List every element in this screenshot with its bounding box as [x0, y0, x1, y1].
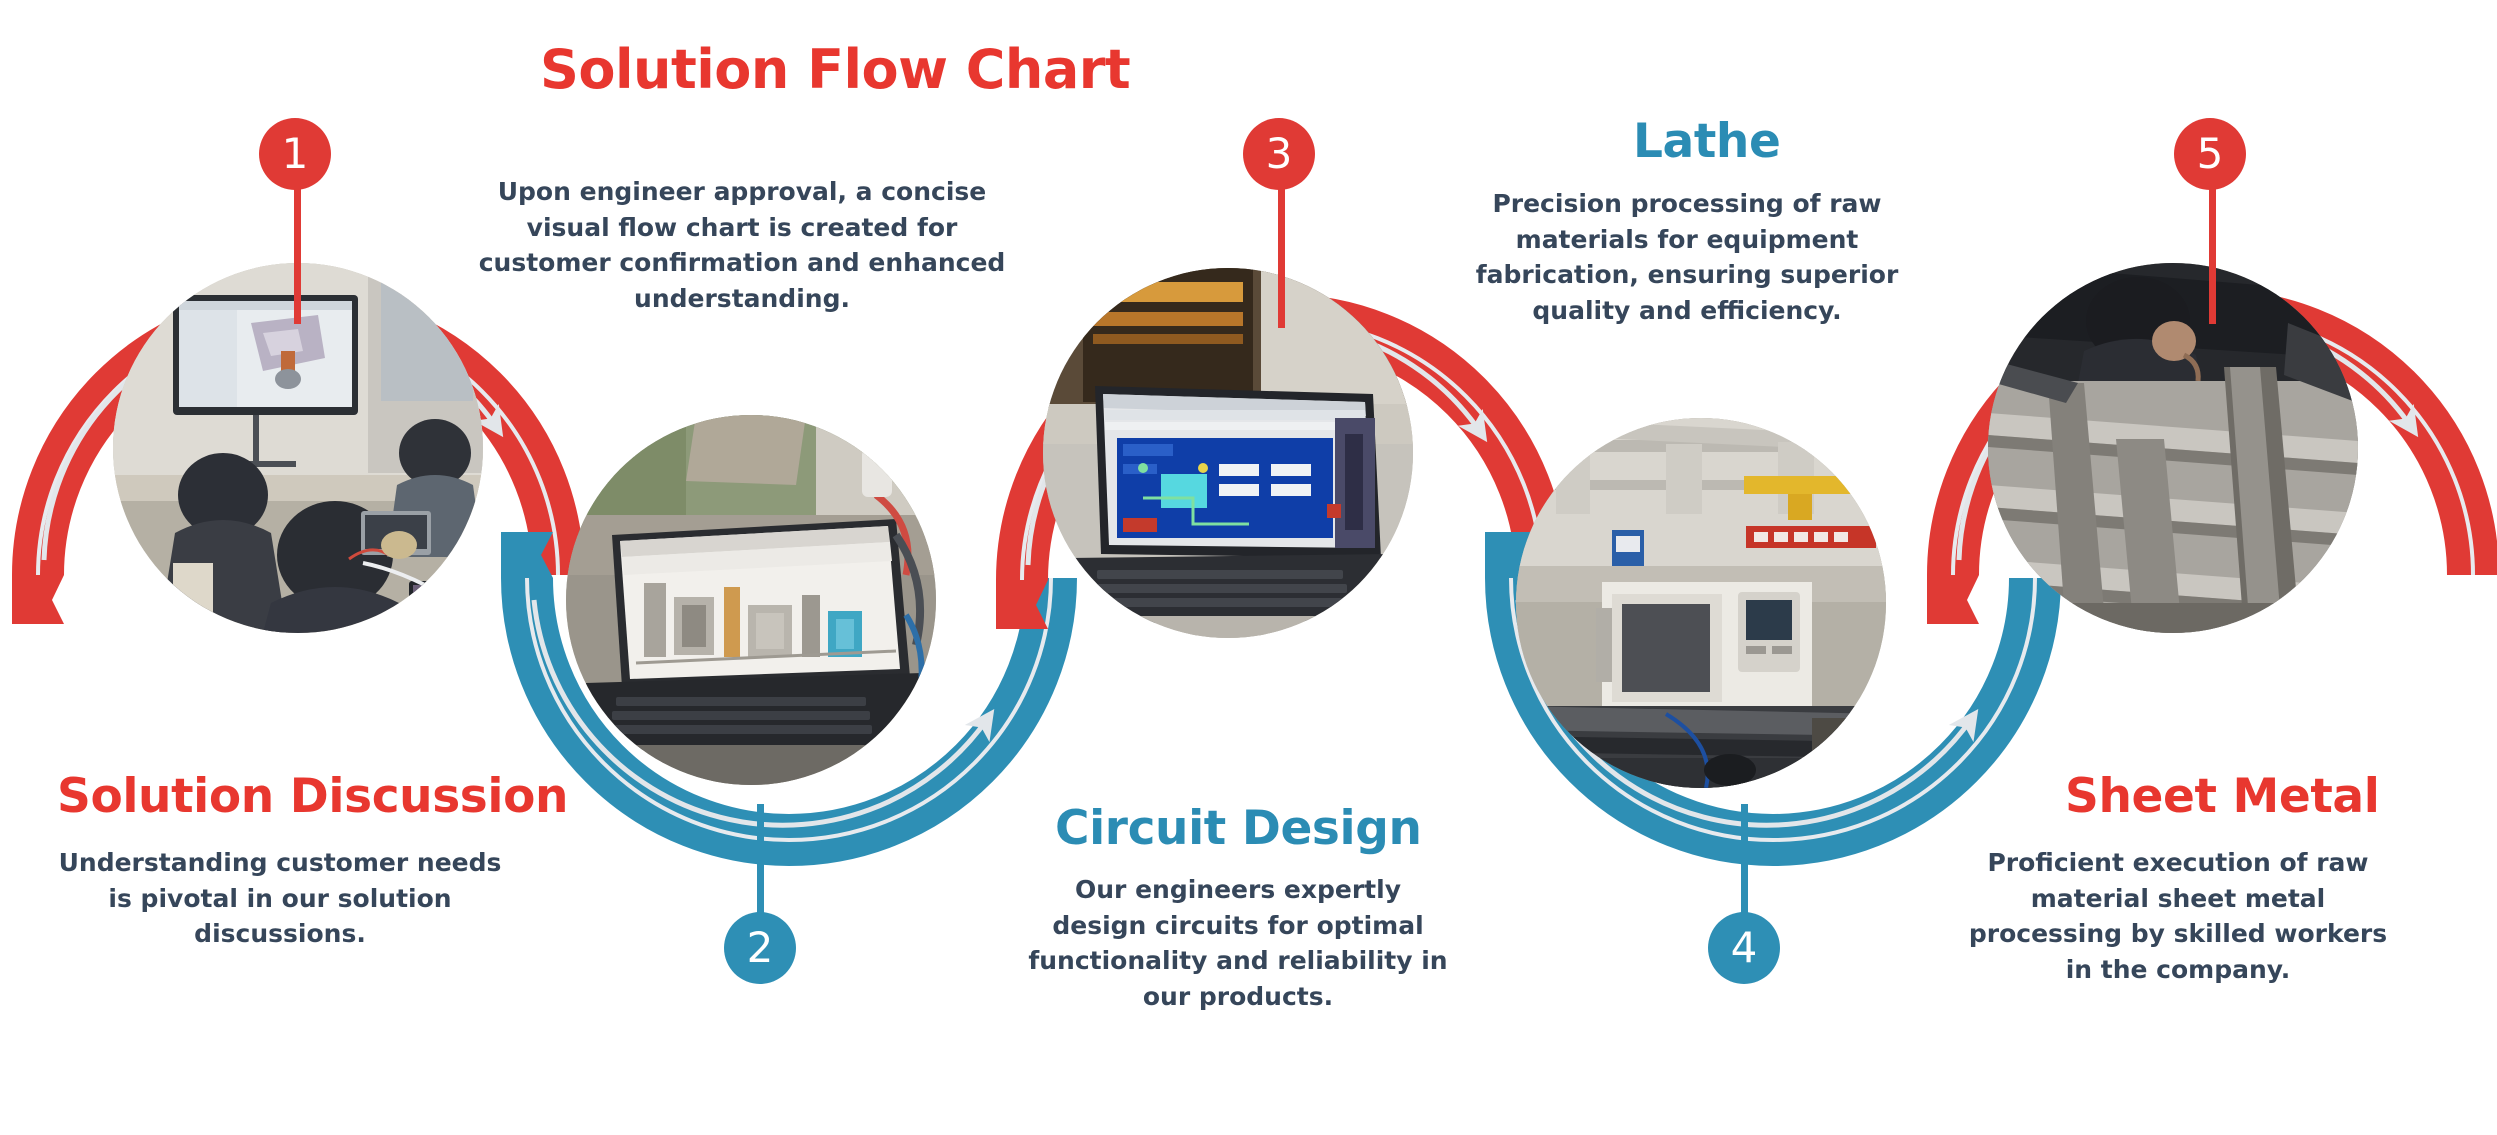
photo-circle-3 — [1043, 268, 1413, 638]
step-body-1-line-1: Understanding customer needs — [20, 845, 540, 881]
step-body-4-line-2: materials for equipment — [1447, 222, 1927, 258]
step-body-2-line-2: visual flow chart is created for — [442, 210, 1042, 246]
photo-circle-5 — [1988, 263, 2358, 633]
step-body-4-line-4: quality and efficiency. — [1447, 293, 1927, 329]
photo-circle-2 — [566, 415, 936, 785]
step-body-3-line-2: design circuits for optimal — [978, 908, 1498, 944]
step-body-2-line-3: customer confirmation and enhanced — [442, 245, 1042, 281]
step-badge-3[interactable]: 3 — [1243, 118, 1315, 190]
step-body-5-line-1: Proficient execution of raw — [1898, 845, 2458, 881]
step-badge-3-label: 3 — [1266, 133, 1293, 175]
step-body-4-line-3: fabrication, ensuring superior — [1447, 257, 1927, 293]
step-heading-1: Solution Discussion — [57, 773, 568, 820]
step-body-3-line-1: Our engineers expertly — [978, 872, 1498, 908]
infographic-canvas: 1 2 3 4 5 Solution Flow Chart Solution D… — [0, 0, 2497, 1135]
step-body-4-line-1: Precision processing of raw — [1447, 186, 1927, 222]
step-body-1-line-2: is pivotal in our solution — [20, 881, 540, 917]
step-heading-3: Circuit Design — [1055, 805, 1422, 852]
step-badge-5[interactable]: 5 — [2174, 118, 2246, 190]
photo-cnc-lathe — [1516, 418, 1886, 788]
badge-stem-4 — [1741, 804, 1748, 916]
step-badge-4[interactable]: 4 — [1708, 912, 1780, 984]
step-body-5: Proficient execution of raw material she… — [1898, 845, 2458, 987]
step-badge-2[interactable]: 2 — [724, 912, 796, 984]
step-body-2-line-4: understanding. — [442, 281, 1042, 317]
step-body-1: Understanding customer needs is pivotal … — [20, 845, 540, 952]
step-body-3: Our engineers expertly design circuits f… — [978, 872, 1498, 1014]
step-body-1-line-3: discussions. — [20, 916, 540, 952]
step-heading-5: Sheet Metal — [2065, 773, 2379, 820]
step-badge-1[interactable]: 1 — [259, 118, 331, 190]
step-body-5-line-2: material sheet metal — [1898, 881, 2458, 917]
step-badge-2-label: 2 — [747, 927, 774, 969]
badge-stem-2 — [757, 804, 764, 916]
badge-stem-3 — [1278, 186, 1285, 328]
step-body-5-line-4: in the company. — [1898, 952, 2458, 988]
step-body-3-line-4: our products. — [978, 979, 1498, 1015]
step-body-5-line-3: processing by skilled workers — [1898, 916, 2458, 952]
photo-circuit-design — [1043, 268, 1413, 638]
step-heading-4: Lathe — [1633, 118, 1780, 165]
page-title: Solution Flow Chart — [540, 43, 1130, 97]
step-badge-4-label: 4 — [1731, 927, 1758, 969]
step-body-3-line-3: functionality and reliability in — [978, 943, 1498, 979]
step-body-2: Upon engineer approval, a concise visual… — [442, 174, 1042, 316]
photo-circle-4 — [1516, 418, 1886, 788]
step-body-4: Precision processing of raw materials fo… — [1447, 186, 1927, 328]
step-badge-1-label: 1 — [282, 133, 309, 175]
photo-laptop-cad — [566, 415, 936, 785]
badge-stem-5 — [2209, 186, 2216, 324]
step-body-2-line-1: Upon engineer approval, a concise — [442, 174, 1042, 210]
step-badge-5-label: 5 — [2197, 133, 2224, 175]
badge-stem-1 — [294, 186, 301, 324]
photo-sheet-metal — [1988, 263, 2358, 633]
